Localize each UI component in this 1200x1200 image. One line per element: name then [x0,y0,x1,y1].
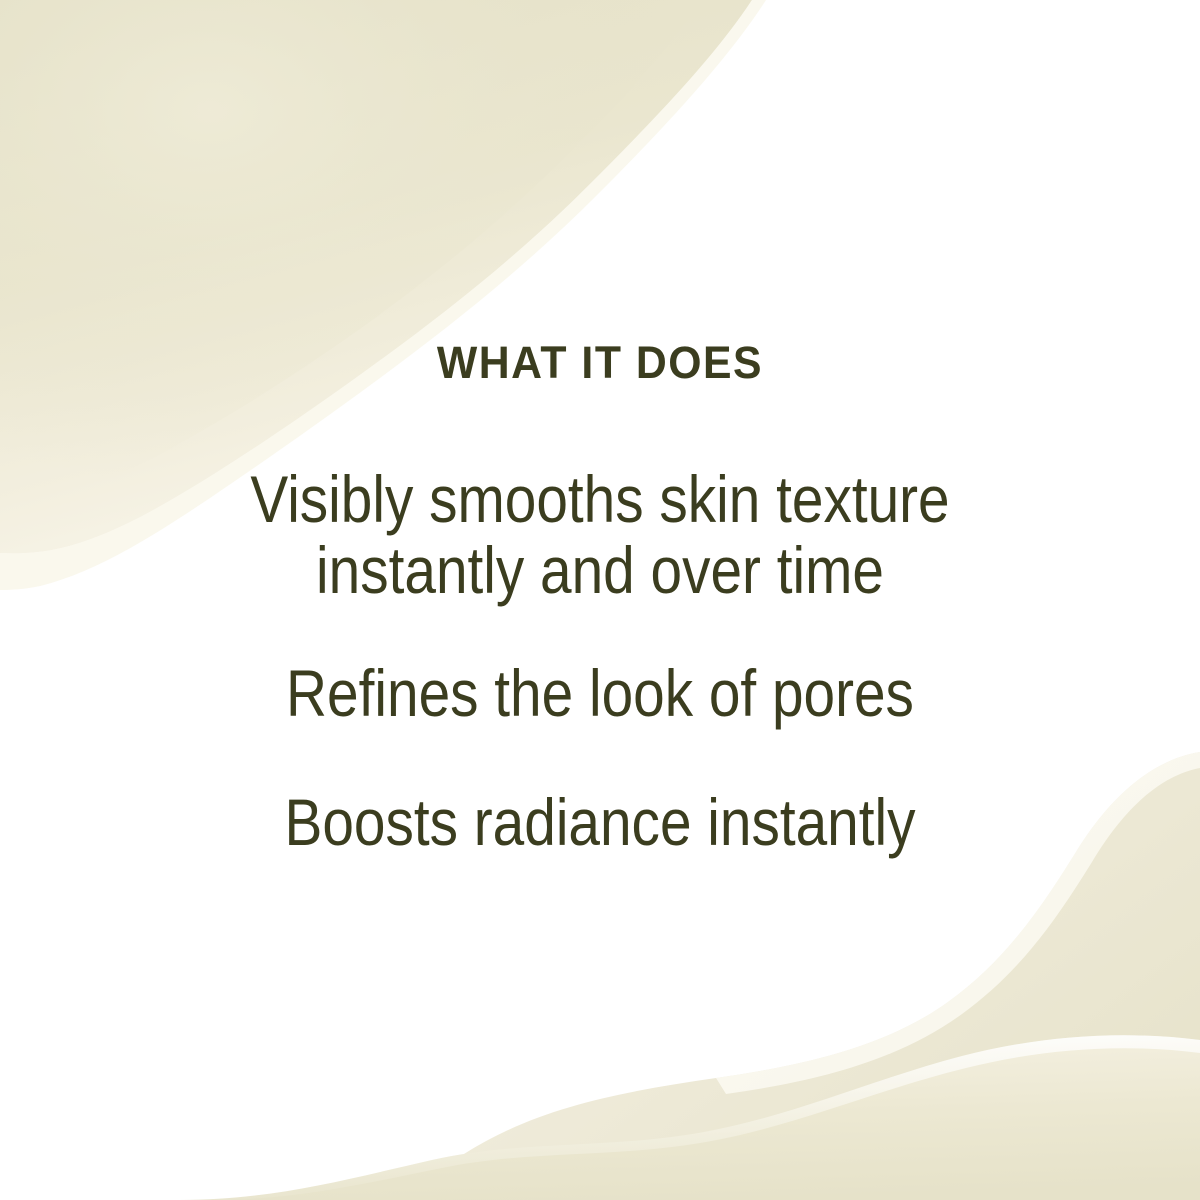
card-content: WHAT IT DOES Visibly smooths skin textur… [0,0,1200,1200]
benefit-item-2: Refines the look of pores [84,658,1116,729]
benefit-item-3: Boosts radiance instantly [84,787,1116,858]
benefit-list: Visibly smooths skin texture instantly a… [0,464,1200,858]
page-title: WHAT IT DOES [30,339,1170,386]
product-benefits-card: WHAT IT DOES Visibly smooths skin textur… [0,0,1200,1200]
benefit-item-1: Visibly smooths skin texture instantly a… [84,464,1116,606]
